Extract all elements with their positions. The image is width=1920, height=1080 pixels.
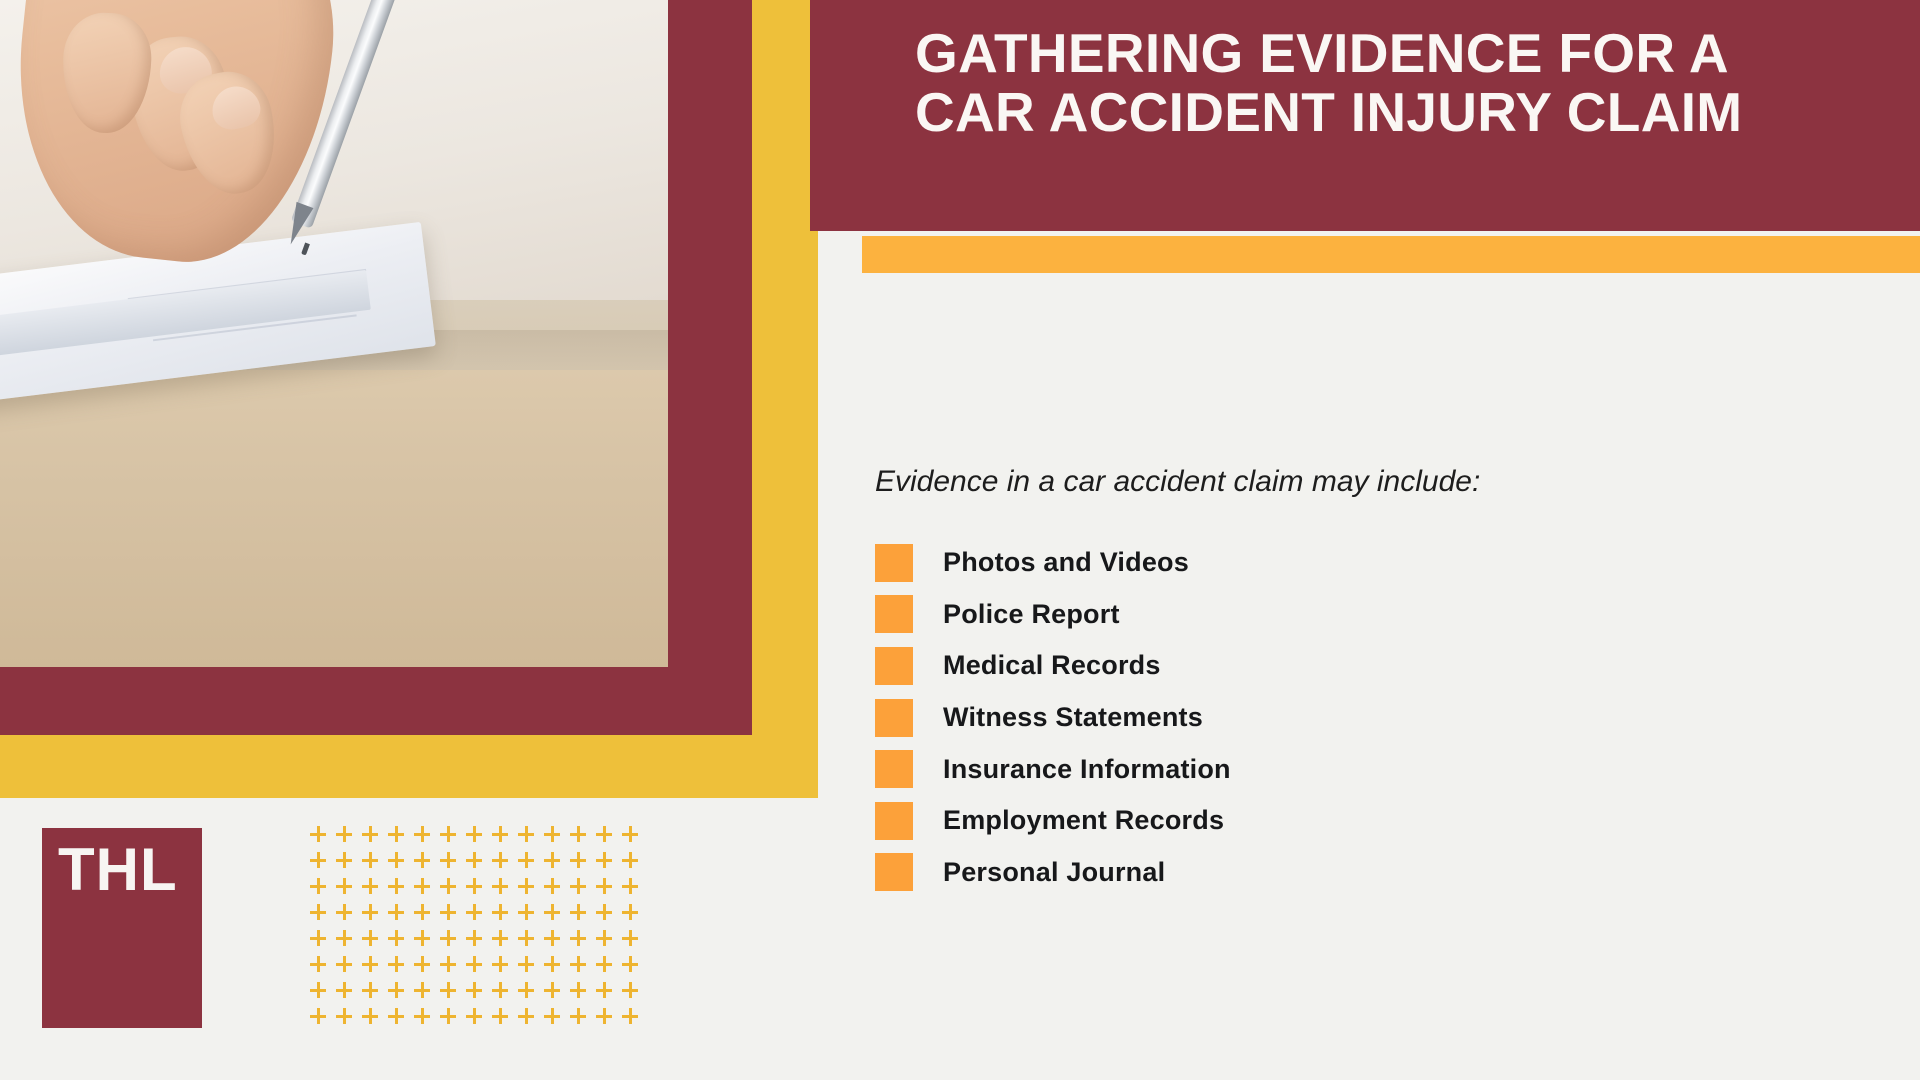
plus-icon xyxy=(310,930,326,946)
list-item: Insurance Information xyxy=(875,743,1775,795)
plus-icon xyxy=(310,956,326,972)
plus-icon xyxy=(362,1008,378,1024)
plus-icon xyxy=(492,982,508,998)
list-item-label: Photos and Videos xyxy=(943,547,1189,578)
plus-icon xyxy=(570,930,586,946)
plus-icon xyxy=(466,852,482,868)
plus-icon xyxy=(518,852,534,868)
plus-icon xyxy=(414,904,430,920)
list-item: Police Report xyxy=(875,589,1775,641)
plus-icon xyxy=(362,956,378,972)
list-item-label: Police Report xyxy=(943,599,1120,630)
plus-icon xyxy=(622,930,638,946)
plus-icon xyxy=(544,930,560,946)
square-bullet-icon xyxy=(875,750,913,788)
left-maroon-strip xyxy=(690,0,752,735)
plus-icon xyxy=(622,956,638,972)
square-bullet-icon xyxy=(875,802,913,840)
plus-icon xyxy=(518,878,534,894)
plus-icon xyxy=(336,982,352,998)
plus-icon xyxy=(622,852,638,868)
plus-icon xyxy=(310,878,326,894)
title-accent-bar xyxy=(862,236,1920,273)
plus-icon xyxy=(414,826,430,842)
plus-icon xyxy=(336,930,352,946)
square-bullet-icon xyxy=(875,647,913,685)
infographic-canvas: GATHERING EVIDENCE FOR A CAR ACCIDENT IN… xyxy=(0,0,1920,1080)
plus-icon xyxy=(544,878,560,894)
plus-icon xyxy=(518,1008,534,1024)
photo-desk xyxy=(0,370,668,667)
subtitle: Evidence in a car accident claim may inc… xyxy=(875,465,1480,499)
list-item: Personal Journal xyxy=(875,847,1775,899)
plus-icon xyxy=(336,878,352,894)
plus-icon xyxy=(336,826,352,842)
plus-icon xyxy=(622,904,638,920)
plus-icon xyxy=(414,930,430,946)
plus-icon xyxy=(336,1008,352,1024)
plus-icon xyxy=(544,852,560,868)
list-item-label: Witness Statements xyxy=(943,702,1203,733)
plus-icon xyxy=(596,878,612,894)
list-item-label: Employment Records xyxy=(943,805,1224,836)
plus-icon xyxy=(336,904,352,920)
plus-icon xyxy=(414,982,430,998)
plus-icon xyxy=(570,852,586,868)
plus-icon xyxy=(518,930,534,946)
plus-icon xyxy=(388,826,404,842)
square-bullet-icon xyxy=(875,699,913,737)
plus-icon xyxy=(362,852,378,868)
evidence-list: Photos and Videos Police Report Medical … xyxy=(875,537,1775,898)
plus-icon xyxy=(570,1008,586,1024)
logo-text: THL xyxy=(58,840,178,900)
plus-icon xyxy=(388,852,404,868)
plus-icon xyxy=(440,852,456,868)
plus-icon xyxy=(544,1008,560,1024)
plus-icon xyxy=(440,878,456,894)
list-item-label: Personal Journal xyxy=(943,857,1165,888)
plus-icon xyxy=(596,982,612,998)
plus-icon xyxy=(492,904,508,920)
square-bullet-icon xyxy=(875,595,913,633)
plus-grid-decoration xyxy=(310,826,640,1034)
plus-icon xyxy=(388,930,404,946)
plus-icon xyxy=(388,956,404,972)
plus-icon xyxy=(466,1008,482,1024)
plus-icon xyxy=(622,826,638,842)
plus-icon xyxy=(492,1008,508,1024)
plus-icon xyxy=(492,878,508,894)
plus-icon xyxy=(466,904,482,920)
plus-icon xyxy=(518,956,534,972)
plus-icon xyxy=(570,904,586,920)
plus-icon xyxy=(596,852,612,868)
list-item-label: Medical Records xyxy=(943,650,1161,681)
plus-icon xyxy=(596,904,612,920)
title-block: GATHERING EVIDENCE FOR A CAR ACCIDENT IN… xyxy=(810,0,1920,231)
plus-icon xyxy=(518,904,534,920)
plus-icon xyxy=(596,826,612,842)
plus-icon xyxy=(570,878,586,894)
plus-icon xyxy=(440,1008,456,1024)
plus-icon xyxy=(310,904,326,920)
plus-icon xyxy=(362,904,378,920)
plus-icon xyxy=(310,1008,326,1024)
list-item: Witness Statements xyxy=(875,692,1775,744)
list-item: Medical Records xyxy=(875,640,1775,692)
plus-icon xyxy=(544,904,560,920)
list-item: Employment Records xyxy=(875,795,1775,847)
square-bullet-icon xyxy=(875,853,913,891)
plus-icon xyxy=(336,852,352,868)
logo: THL xyxy=(42,828,202,1028)
plus-icon xyxy=(310,826,326,842)
plus-icon xyxy=(414,956,430,972)
plus-icon xyxy=(596,1008,612,1024)
plus-icon xyxy=(570,826,586,842)
plus-icon xyxy=(440,930,456,946)
plus-icon xyxy=(466,930,482,946)
plus-icon xyxy=(570,982,586,998)
plus-icon xyxy=(362,878,378,894)
page-title: GATHERING EVIDENCE FOR A CAR ACCIDENT IN… xyxy=(915,24,1855,142)
plus-icon xyxy=(466,826,482,842)
plus-icon xyxy=(518,982,534,998)
plus-icon xyxy=(596,956,612,972)
plus-icon xyxy=(622,1008,638,1024)
plus-icon xyxy=(440,904,456,920)
left-yellow-strip xyxy=(752,0,810,798)
plus-icon xyxy=(492,930,508,946)
plus-icon xyxy=(466,878,482,894)
plus-icon xyxy=(388,904,404,920)
plus-icon xyxy=(440,826,456,842)
plus-icon xyxy=(414,878,430,894)
plus-icon xyxy=(544,982,560,998)
plus-icon xyxy=(414,1008,430,1024)
plus-icon xyxy=(336,956,352,972)
plus-icon xyxy=(544,826,560,842)
plus-icon xyxy=(310,852,326,868)
plus-icon xyxy=(466,982,482,998)
plus-icon xyxy=(362,930,378,946)
plus-icon xyxy=(492,956,508,972)
list-item-label: Insurance Information xyxy=(943,754,1231,785)
plus-icon xyxy=(622,878,638,894)
plus-icon xyxy=(544,956,560,972)
plus-icon xyxy=(362,982,378,998)
plus-icon xyxy=(414,852,430,868)
plus-icon xyxy=(466,956,482,972)
plus-icon xyxy=(362,826,378,842)
plus-icon xyxy=(492,852,508,868)
plus-icon xyxy=(622,982,638,998)
plus-icon xyxy=(310,982,326,998)
hero-photo xyxy=(0,0,668,667)
plus-icon xyxy=(596,930,612,946)
plus-icon xyxy=(388,878,404,894)
square-bullet-icon xyxy=(875,544,913,582)
list-item: Photos and Videos xyxy=(875,537,1775,589)
plus-icon xyxy=(440,956,456,972)
plus-icon xyxy=(388,982,404,998)
plus-icon xyxy=(440,982,456,998)
plus-icon xyxy=(518,826,534,842)
plus-icon xyxy=(492,826,508,842)
plus-icon xyxy=(388,1008,404,1024)
plus-icon xyxy=(570,956,586,972)
